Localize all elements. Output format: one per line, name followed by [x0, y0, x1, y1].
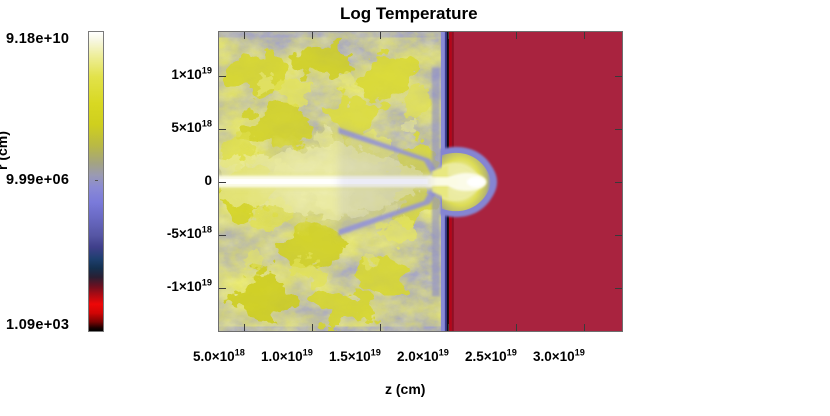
x-axis-label: z (cm) [385, 381, 425, 397]
y-tick-r3 [615, 182, 622, 183]
y-tick-5 [219, 288, 226, 289]
jet-simulation-heatmap [218, 31, 623, 332]
x-tick-label-3: 1.5×1019 [329, 349, 381, 364]
x-tick-label-4: 2.0×1019 [397, 349, 449, 364]
y-tick-label-2: 5×1018 [150, 120, 212, 135]
x-tick-label-5: 2.5×1019 [465, 349, 517, 364]
x-tick-b4 [448, 324, 449, 331]
x-tick-t4 [448, 32, 449, 39]
y-axis-label: r (cm) [0, 131, 10, 170]
x-tick-t6 [584, 32, 585, 39]
x-tick-t5 [516, 32, 517, 39]
x-tick-t1 [244, 32, 245, 39]
x-tick-b2 [312, 324, 313, 331]
temperature-colorbar [88, 31, 104, 332]
x-tick-b6 [584, 324, 585, 331]
colorbar-gradient [88, 31, 104, 332]
y-tick-r2 [615, 129, 622, 130]
colorbar-tick-mid [95, 180, 98, 181]
page-title: Log Temperature [340, 4, 478, 24]
x-tick-b3 [380, 324, 381, 331]
colorbar-min-label: 1.09e+03 [6, 317, 69, 333]
x-tick-t3 [380, 32, 381, 39]
y-tick-1 [219, 76, 226, 77]
y-tick-3 [219, 182, 226, 183]
figure-root: Log Temperature 9.18e+10 9.99e+06 1.09e+… [0, 0, 830, 416]
y-tick-2 [219, 129, 226, 130]
x-tick-label-6: 3.0×1019 [533, 349, 585, 364]
heatmap-canvas [219, 32, 622, 331]
y-tick-4 [219, 235, 226, 236]
y-tick-label-5: -1×1019 [146, 279, 212, 294]
x-tick-b5 [516, 324, 517, 331]
x-tick-label-1: 5.0×1018 [193, 349, 245, 364]
y-tick-r5 [615, 288, 622, 289]
y-tick-r4 [615, 235, 622, 236]
x-tick-b1 [244, 324, 245, 331]
x-tick-t2 [312, 32, 313, 39]
colorbar-max-label: 9.18e+10 [6, 31, 69, 47]
y-tick-label-1: 1×1019 [150, 67, 212, 82]
x-tick-label-2: 1.0×1019 [261, 349, 313, 364]
colorbar-mid-label: 9.99e+06 [6, 172, 69, 188]
y-tick-label-3: 0 [150, 173, 212, 188]
y-tick-r1 [615, 76, 622, 77]
y-tick-label-4: -5×1018 [146, 226, 212, 241]
